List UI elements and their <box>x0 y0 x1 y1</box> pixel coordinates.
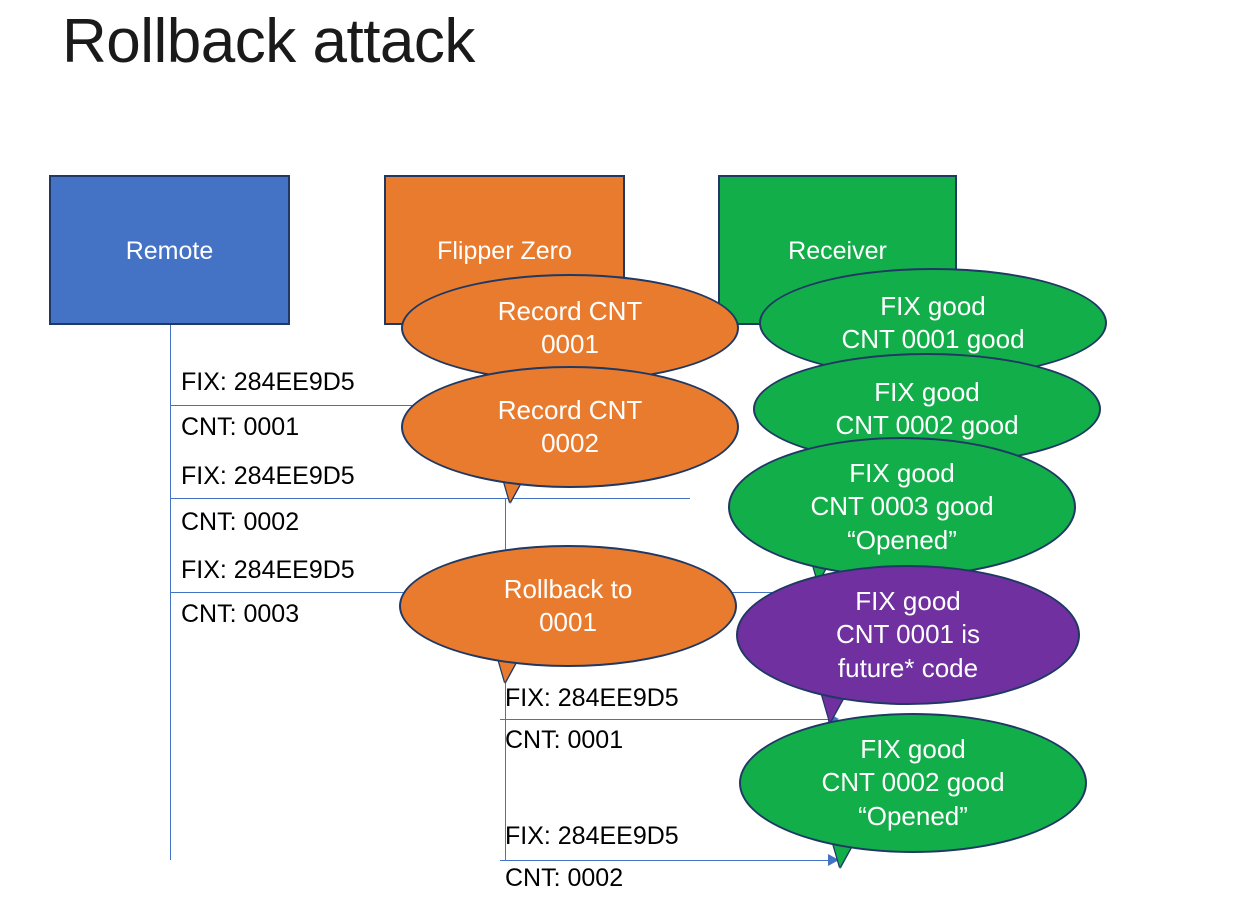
bubble-receiver-cnt-0003-opened: FIX good CNT 0003 good “Opened” <box>728 437 1076 577</box>
bubble-line: Rollback to <box>504 573 633 606</box>
message-5-cnt: CNT: 0002 <box>505 864 623 893</box>
bubble-line: CNT 0001 is <box>836 618 980 651</box>
message-5-fix: FIX: 284EE9D5 <box>505 822 679 851</box>
actor-label-flipper-zero: Flipper Zero <box>386 237 623 266</box>
bubble-line: “Opened” <box>858 800 968 833</box>
bubble-line: CNT 0003 good <box>810 490 993 523</box>
actor-label-receiver: Receiver <box>720 237 955 266</box>
message-1-cnt: CNT: 0001 <box>181 413 299 442</box>
bubble-rollback-to-0001: Rollback to 0001 <box>399 545 737 667</box>
bubble-receiver-future-code: FIX good CNT 0001 is future* code <box>736 565 1080 705</box>
bubble-line: FIX good <box>849 457 955 490</box>
bubble-line: future* code <box>838 652 978 685</box>
connector-message-5 <box>500 860 830 861</box>
bubble-line: Record CNT <box>498 295 642 328</box>
bubble-line: CNT 0001 good <box>841 323 1024 356</box>
bubble-receiver-cnt-0002-opened: FIX good CNT 0002 good “Opened” <box>739 713 1087 853</box>
actor-label-remote: Remote <box>51 237 288 266</box>
bubble-line: 0001 <box>541 328 599 361</box>
message-2-fix: FIX: 284EE9D5 <box>181 462 355 491</box>
bubble-line: FIX good <box>880 290 986 323</box>
bubble-line: “Opened” <box>847 524 957 557</box>
bubble-line: FIX good <box>855 585 961 618</box>
message-4-cnt: CNT: 0001 <box>505 726 623 755</box>
message-2-cnt: CNT: 0002 <box>181 508 299 537</box>
bubble-line: 0002 <box>541 427 599 460</box>
bubble-line: CNT 0002 good <box>821 766 1004 799</box>
slide-canvas: Rollback attack Remote Flipper Zero Rece… <box>0 0 1233 898</box>
message-4-fix: FIX: 284EE9D5 <box>505 684 679 713</box>
connector-message-2 <box>170 498 690 499</box>
bubble-record-cnt-0002: Record CNT 0002 <box>401 366 739 488</box>
bubble-line: Record CNT <box>498 394 642 427</box>
actor-box-remote: Remote <box>49 175 290 325</box>
bubble-line: 0001 <box>539 606 597 639</box>
bubble-line: FIX good <box>860 733 966 766</box>
connector-message-4 <box>500 719 830 720</box>
message-3-cnt: CNT: 0003 <box>181 600 299 629</box>
message-3-fix: FIX: 284EE9D5 <box>181 556 355 585</box>
page-title: Rollback attack <box>62 8 475 76</box>
bubble-line: FIX good <box>874 376 980 409</box>
message-1-fix: FIX: 284EE9D5 <box>181 368 355 397</box>
